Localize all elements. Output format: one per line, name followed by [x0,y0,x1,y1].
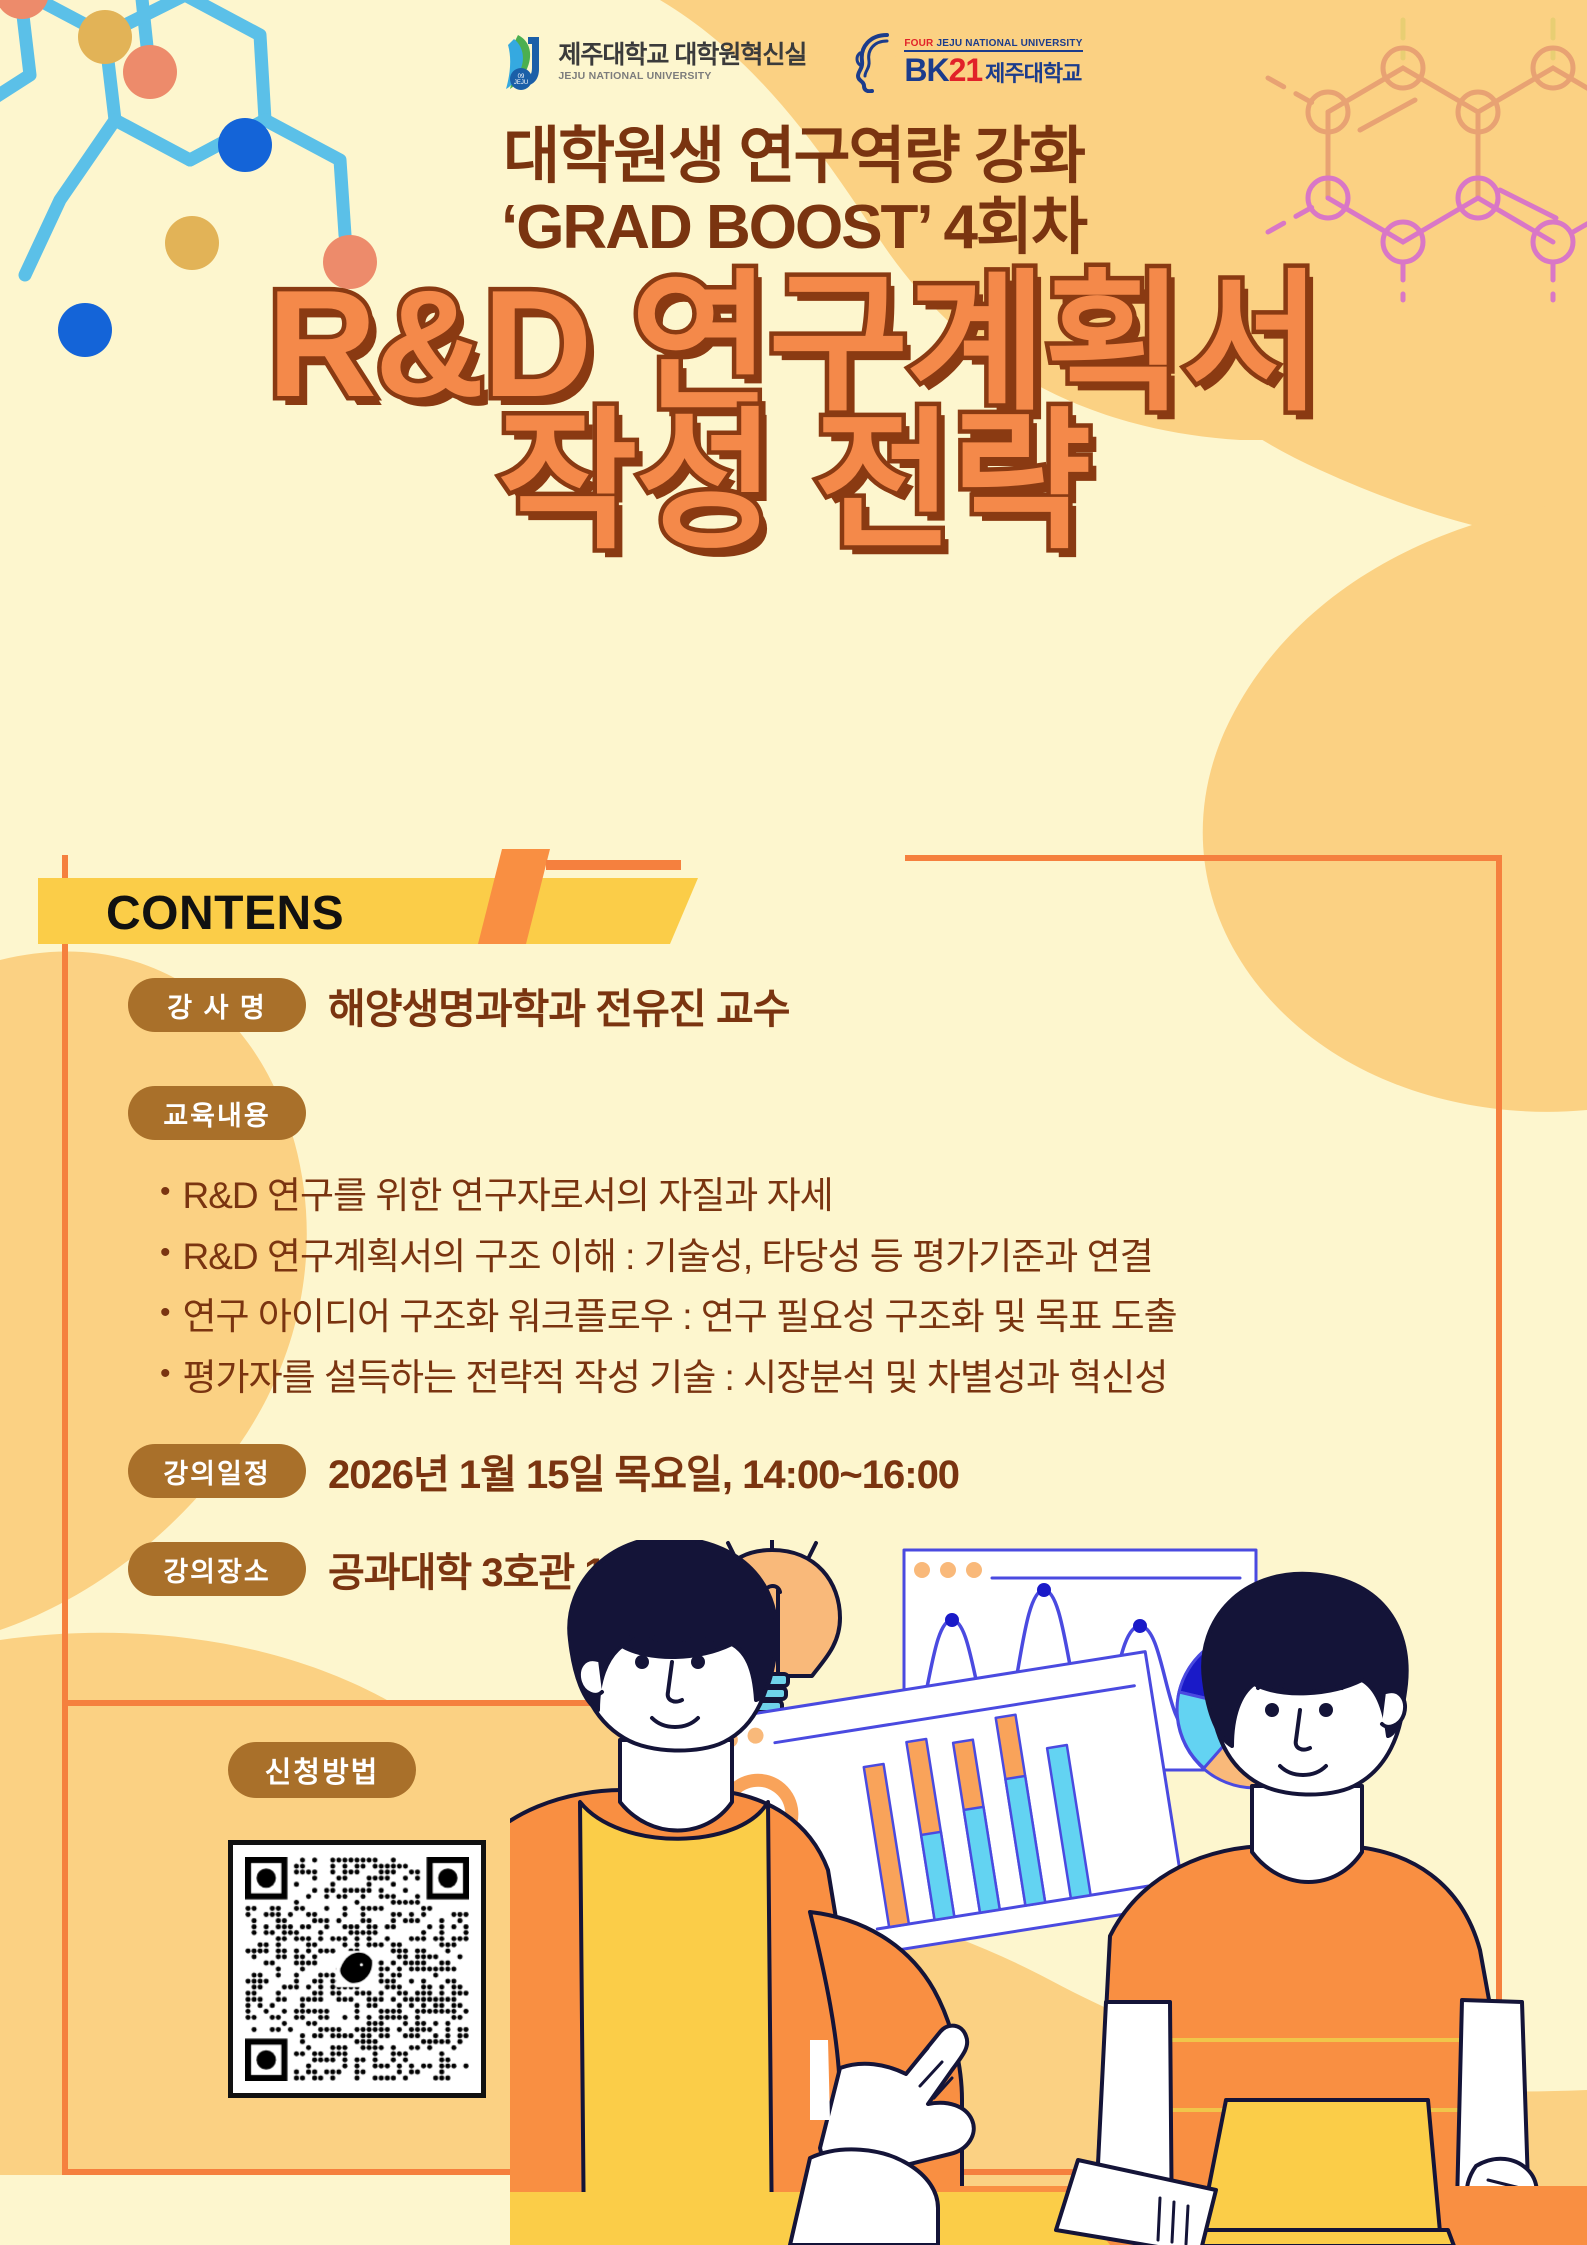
main-title-line1: R&D 연구계획서 [0,272,1587,416]
bk21-head-icon [854,31,898,93]
bullet-dot-icon: • [160,1231,171,1275]
row-apply-method: 신청방법 [228,1742,416,1798]
bullet-text: 평가자를 설득하는 전략적 작성 기술 : 시장분석 및 차별성과 혁신성 [183,1352,1168,1405]
list-item: • R&D 연구계획서의 구조 이해 : 기술성, 타당성 등 평가기준과 연결 [160,1231,1490,1284]
contents-banner-dash [546,860,681,870]
bullet-dot-icon: • [160,1352,171,1396]
pill-apply-method: 신청방법 [228,1742,416,1798]
poster-root: 09 JEJU 제주대학교 대학원혁신실 JEJU NATIONAL UNIVE… [0,0,1587,2245]
list-item: • R&D 연구를 위한 연구자로서의 자질과 자세 [160,1170,1490,1223]
row-schedule: 강의일정 2026년 1월 15일 목요일, 14:00~16:00 [128,1442,959,1500]
main-title-line2: 작성 전략 [0,410,1587,554]
row-curriculum: 교육내용 [128,1086,306,1140]
value-instructor: 해양생명과학과 전유진 교수 [328,975,789,1035]
qr-canvas [245,1857,469,2081]
bullet-text: R&D 연구계획서의 구조 이해 : 기술성, 타당성 등 평가기준과 연결 [183,1231,1153,1284]
bk21-bk-text: BK [904,54,948,86]
bk21-korean: 제주대학교 [985,63,1081,85]
jeju-national-university-logo: 09 JEJU 제주대학교 대학원혁신실 JEJU NATIONAL UNIVE… [504,31,806,93]
jnu-emblem-icon: 09 JEJU [504,31,550,93]
bk21-four-label: FOUR [904,38,933,49]
subtitle-line2: ‘GRAD BOOST’ 4회차 [0,193,1587,264]
svg-text:JEJU: JEJU [514,80,528,86]
page-title: R&D 연구계획서 작성 전략 [0,272,1587,555]
subtitle: 대학원생 연구역량 강화 ‘GRAD BOOST’ 4회차 [0,122,1587,263]
list-item: • 평가자를 설득하는 전략적 작성 기술 : 시장분석 및 차별성과 혁신성 [160,1352,1490,1405]
bullet-text: R&D 연구를 위한 연구자로서의 자질과 자세 [183,1170,833,1223]
decorative-frame-top-line [905,855,1502,861]
pill-curriculum: 교육내용 [128,1086,306,1140]
bullet-dot-icon: • [160,1170,171,1214]
bullet-text: 연구 아이디어 구조화 워크플로우 : 연구 필요성 구조화 및 목표 도출 [183,1291,1177,1344]
header-logos: 09 JEJU 제주대학교 대학원혁신실 JEJU NATIONAL UNIVE… [0,22,1587,102]
pill-location: 강의장소 [128,1542,306,1596]
bk21-number: 21 [949,54,983,86]
row-instructor: 강 사 명 해양생명과학과 전유진 교수 [128,975,789,1035]
pill-schedule: 강의일정 [128,1444,306,1498]
list-item: • 연구 아이디어 구조화 워크플로우 : 연구 필요성 구조화 및 목표 도출 [160,1291,1490,1344]
contents-banner-label: CONTENS [106,886,344,941]
curriculum-bullet-list: • R&D 연구를 위한 연구자로서의 자질과 자세 • R&D 연구계획서의 … [160,1170,1490,1412]
pill-instructor: 강 사 명 [128,978,306,1032]
bk21-univ-label: JEJU NATIONAL UNIVERSITY [936,38,1082,49]
contents-banner: CONTENS [38,878,738,944]
laptop-icon [1188,2100,1454,2245]
application-qr-code[interactable] [228,1840,486,2098]
bk21-logo: FOUR JEJU NATIONAL UNIVERSITY BK 21 제주대학… [854,31,1082,93]
value-schedule: 2026년 1월 15일 목요일, 14:00~16:00 [328,1442,959,1500]
jnu-logo-english: JEJU NATIONAL UNIVERSITY [558,71,806,82]
bullet-dot-icon: • [160,1291,171,1335]
subtitle-line1: 대학원생 연구역량 강화 [503,122,1084,191]
jnu-logo-korean: 제주대학교 대학원혁신실 [558,43,806,68]
two-people-with-charts-illustration [510,1540,1587,2245]
